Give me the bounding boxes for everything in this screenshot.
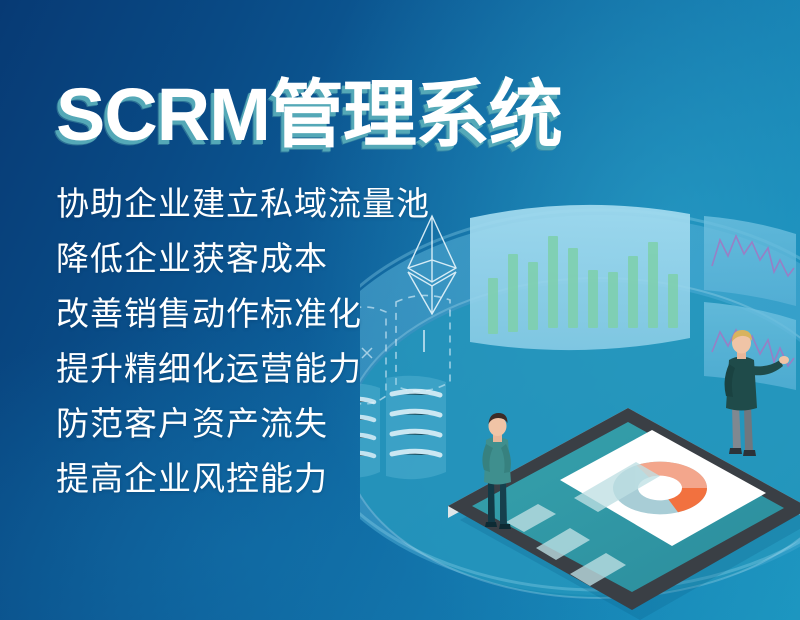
list-item: 降低企业获客成本 [56, 231, 656, 286]
list-item: 提升精细化运营能力 [56, 341, 656, 396]
feature-list: 协助企业建立私域流量池 降低企业获客成本 改善销售动作标准化 提升精细化运营能力… [56, 176, 656, 506]
list-item: 改善销售动作标准化 [56, 286, 656, 341]
list-item: 协助企业建立私域流量池 [56, 176, 656, 231]
text-block: SCRM管理系统 协助企业建立私域流量池 降低企业获客成本 改善销售动作标准化 … [56, 78, 656, 506]
page-title: SCRM管理系统 [56, 78, 656, 152]
list-item: 提高企业风控能力 [56, 451, 656, 506]
list-item: 防范客户资产流失 [56, 396, 656, 451]
scrm-banner: SCRM管理系统 协助企业建立私域流量池 降低企业获客成本 改善销售动作标准化 … [0, 0, 800, 620]
